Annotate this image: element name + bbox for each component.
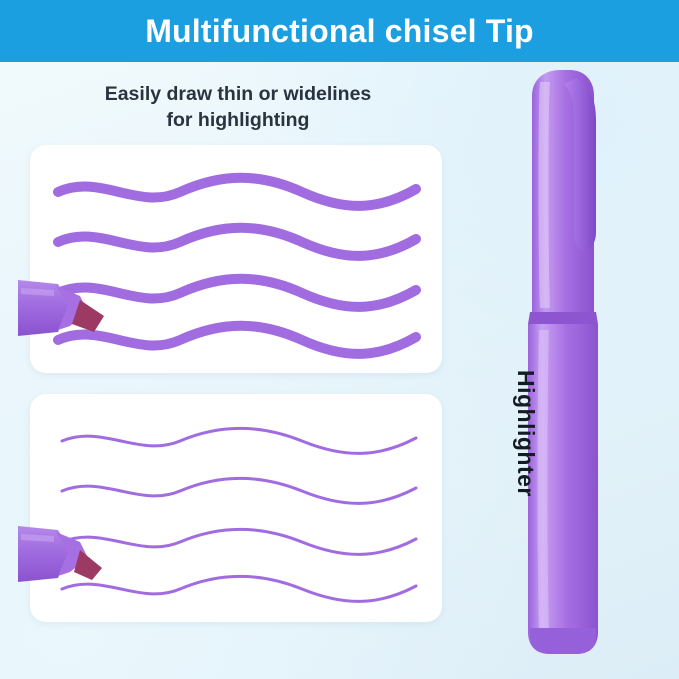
pen-cap-ring xyxy=(528,312,598,324)
thick-stroke-illustration xyxy=(30,145,442,373)
header-banner: Multifunctional chisel Tip xyxy=(0,0,679,62)
stroke-wave-4 xyxy=(58,326,416,354)
page-title: Multifunctional chisel Tip xyxy=(145,13,534,50)
pen-cap xyxy=(532,70,594,312)
subtitle-text: Easily draw thin or widelines for highli… xyxy=(28,82,448,133)
stroke-wave-4 xyxy=(62,576,416,601)
pen-end-cap xyxy=(530,628,596,654)
stroke-wave-2 xyxy=(58,228,416,256)
stroke-wave-1 xyxy=(62,428,416,453)
pen-clip xyxy=(564,78,596,250)
thin-stroke-illustration xyxy=(30,394,442,622)
pen-gloss-top xyxy=(539,82,551,308)
product-feature-image: Multifunctional chisel Tip Easily draw t… xyxy=(0,0,679,679)
stroke-wave-2 xyxy=(62,478,416,503)
stroke-wave-1 xyxy=(58,178,416,206)
subtitle-line-2: for highlighting xyxy=(28,108,448,134)
stroke-wave-3 xyxy=(58,279,416,307)
thin-stroke-sample-card xyxy=(30,394,442,622)
pen-brand-label: Highlighter xyxy=(512,370,539,510)
thick-stroke-sample-card xyxy=(30,145,442,373)
stroke-wave-3 xyxy=(62,529,416,554)
subtitle-line-1: Easily draw thin or widelines xyxy=(28,82,448,108)
highlighter-pen-large xyxy=(498,62,658,662)
pen-gloss-body xyxy=(538,330,550,628)
